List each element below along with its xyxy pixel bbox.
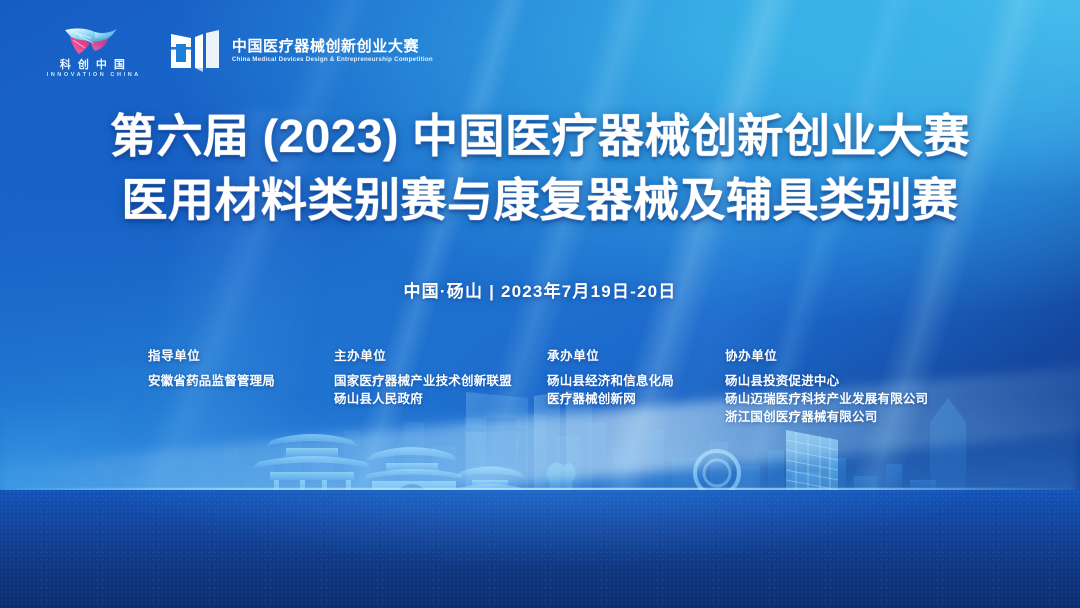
banner-title: 第六届 (2023) 中国医疗器械创新创业大赛 医用材料类别赛与康复器械及辅具类… xyxy=(0,104,1080,232)
logo-innovation-china-cn: 科创中国 xyxy=(53,60,132,71)
open-door-book-logo-icon xyxy=(169,28,221,74)
organizer-item: 浙江国创医疗器械有限公司 xyxy=(725,408,978,426)
organizer-item: 医疗器械创新网 xyxy=(547,390,725,408)
organizer-heading: 协办单位 xyxy=(725,345,978,364)
organizer-heading: 承办单位 xyxy=(547,345,725,364)
organizer-heading: 指导单位 xyxy=(148,345,334,364)
logo-competition-en: China Medical Devices Design & Entrepren… xyxy=(232,57,433,63)
title-line-2: 医用材料类别赛与康复器械及辅具类别赛 xyxy=(0,168,1080,232)
organizer-heading: 主办单位 xyxy=(334,345,547,364)
organizer-item: 国家医疗器械产业技术创新联盟 xyxy=(334,372,547,390)
organizer-item: 砀山迈瑞医疗科技产业发展有限公司 xyxy=(725,390,978,408)
title-line-1: 第六届 (2023) 中国医疗器械创新创业大赛 xyxy=(0,104,1080,168)
logo-competition-cn: 中国医疗器械创新创业大赛 xyxy=(232,39,433,54)
organizer-columns: 指导单位 安徽省药品监督管理局 主办单位 国家医疗器械产业技术创新联盟 砀山县人… xyxy=(148,345,978,426)
organizer-item: 砀山县经济和信息化局 xyxy=(547,372,725,390)
conference-banner: 科创中国 INNOVATION CHINA 中国医疗器械创新创业大赛 China… xyxy=(0,0,1080,608)
ground-plane xyxy=(0,490,1080,608)
location-date-line: 中国·砀山 | 2023年7月19日-20日 xyxy=(0,277,1080,302)
organizer-column-guidance: 指导单位 安徽省药品监督管理局 xyxy=(148,345,334,390)
organizer-column-coorganizer: 协办单位 砀山县投资促进中心 砀山迈瑞医疗科技产业发展有限公司 浙江国创医疗器械… xyxy=(725,345,978,426)
organizer-column-host: 主办单位 国家医疗器械产业技术创新联盟 砀山县人民政府 xyxy=(334,345,547,408)
logo-innovation-china-en: INNOVATION CHINA xyxy=(44,73,141,79)
organizer-item: 安徽省药品监督管理局 xyxy=(148,372,334,390)
organizer-item: 砀山县人民政府 xyxy=(334,390,547,408)
organizer-item: 砀山县投资促进中心 xyxy=(725,372,978,390)
logo-competition: 中国医疗器械创新创业大赛 China Medical Devices Desig… xyxy=(169,28,433,74)
header-logos: 科创中国 INNOVATION CHINA 中国医疗器械创新创业大赛 China… xyxy=(44,24,433,79)
eagle-bird-logo-icon xyxy=(61,24,123,58)
organizer-column-organizer: 承办单位 砀山县经济和信息化局 医疗器械创新网 xyxy=(547,345,725,408)
logo-innovation-china: 科创中国 INNOVATION CHINA xyxy=(44,24,141,79)
